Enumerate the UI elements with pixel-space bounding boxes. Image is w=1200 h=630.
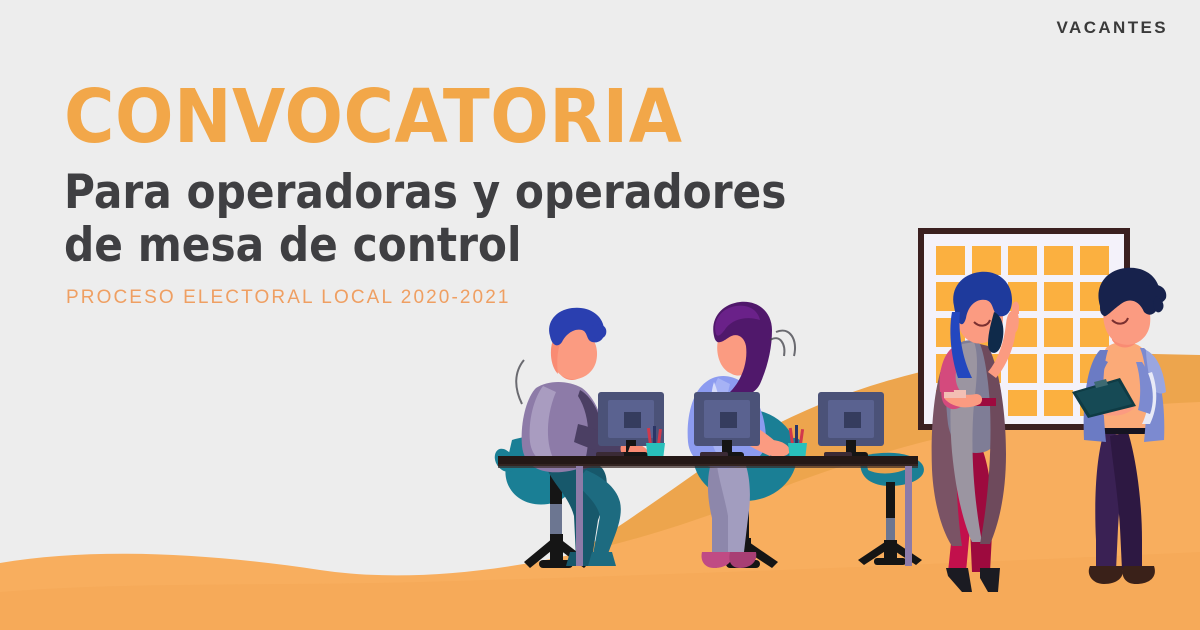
headline-block: CONVOCATORIA Para operadoras y operadore… bbox=[64, 82, 884, 309]
monitor-right bbox=[818, 392, 884, 459]
page-title: CONVOCATORIA bbox=[64, 82, 827, 152]
pencil-cup-center bbox=[788, 425, 807, 460]
poster-canvas: VACANTES CONVOCATORIA Para operadoras y … bbox=[0, 0, 1200, 630]
subtitle: Para operadoras y operadores de mesa de … bbox=[64, 166, 802, 272]
subtitle-line-1: Para operadoras y operadores bbox=[64, 166, 802, 219]
subtitle-line-2: de mesa de control bbox=[64, 219, 802, 272]
kicker-text: PROCESO ELECTORAL LOCAL 2020-2021 bbox=[66, 287, 884, 309]
office-chair-right bbox=[858, 453, 924, 565]
vacantes-badge: VACANTES bbox=[1057, 18, 1168, 38]
